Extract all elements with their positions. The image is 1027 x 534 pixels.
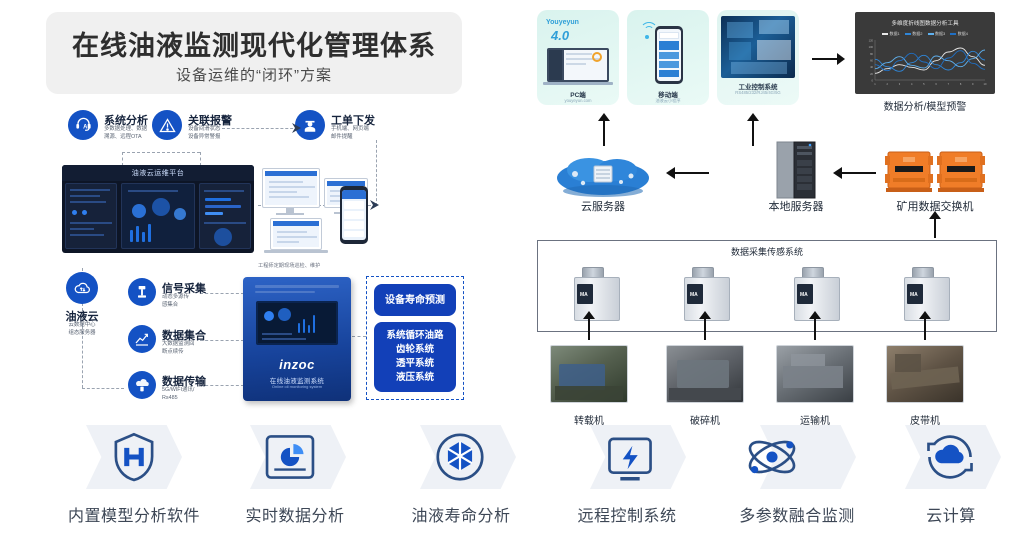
systems-line-2: 齿轮系统 — [396, 343, 434, 357]
oil-cloud-icon — [66, 272, 98, 304]
feature-label-6: 云计算 — [898, 502, 1004, 526]
legend-swatch-3 — [928, 33, 934, 35]
monitor-base — [276, 213, 304, 215]
system-analysis-sub: 多数据处理、数据溯源、远程OTA — [104, 126, 147, 142]
oil-cloud-sub: 云数据中心组态服务器 — [46, 322, 118, 338]
systems-line-4: 液压系统 — [396, 371, 434, 385]
linked-alarm-sub: 设备间滑状态设备异常警报 — [188, 126, 220, 142]
svg-text:40: 40 — [870, 65, 873, 69]
svg-text:10: 10 — [984, 82, 987, 86]
data-aggregate-sub: 大数据监测回断点续传 — [162, 341, 194, 357]
arrow-crusher-to-sensor — [698, 310, 712, 340]
feature-label-5: 多参数融合监测 — [714, 502, 880, 526]
console-left-panel — [65, 183, 117, 249]
cube-network-icon — [428, 425, 492, 489]
oil-monitoring-device: inzoc 在线油液监测系统 Online oil monitoring sys… — [243, 277, 351, 401]
system-analysis-icon: AI — [68, 110, 98, 140]
feature-label-2: 实时数据分析 — [222, 502, 368, 526]
page-title: 在线油液监测现代化管理体系 — [46, 24, 462, 63]
legend-swatch-1 — [882, 33, 888, 35]
signal-collect-icon — [128, 278, 156, 306]
connector-signal-to-device — [200, 293, 244, 294]
client-card-mobile: 移动端 油液云小程序 — [627, 10, 709, 105]
device-brand: inzoc — [243, 357, 351, 372]
pie-chart-icon — [258, 425, 322, 489]
equipment-label-transporter: 运输机 — [776, 412, 854, 427]
chart-plot: 02040608010012012345678910 — [863, 38, 987, 88]
console-body — [65, 183, 251, 250]
equipment-photo-crusher — [666, 345, 744, 403]
arrow-cloud-to-pc — [597, 112, 611, 146]
feature-label-3: 油液寿命分析 — [388, 502, 534, 526]
arrow-local-to-industrial — [746, 112, 760, 146]
mobile-phone-graphic — [655, 26, 683, 84]
systems-line-1: 系统循环油路 — [386, 329, 443, 343]
sensor-badge-3: MA — [800, 292, 808, 298]
arrow-local-to-cloud — [665, 166, 709, 180]
svg-text:60: 60 — [870, 59, 873, 63]
arrow-switch-to-local — [832, 166, 876, 180]
data-transfer-icon — [128, 371, 156, 399]
svg-text:20: 20 — [870, 72, 873, 76]
sensor-badge-2: MA — [690, 292, 698, 298]
sensor-unit-1: MA — [558, 267, 636, 325]
connector-alarm-to-workorder — [222, 128, 298, 129]
shield-check-icon — [102, 425, 166, 489]
arrow-loader-to-sensor — [582, 310, 596, 340]
connector-cloud-to-transfer — [82, 388, 124, 389]
cloud-server-icon — [553, 150, 653, 198]
connector-aggregate-to-device — [200, 340, 244, 341]
device-label-en: Online oil monitoring system — [243, 384, 351, 389]
svg-text:0: 0 — [872, 79, 874, 83]
legend-label-3: 数据3 — [935, 31, 945, 37]
industrial-subcaption: RS485/232/RJ45/4G/5G — [717, 90, 799, 95]
legend-item-2: 数据2 — [905, 31, 923, 37]
local-server-label: 本地服务器 — [756, 198, 836, 214]
mobile-phone — [340, 186, 368, 244]
svg-text:9: 9 — [972, 82, 974, 86]
equipment-label-loader: 转载机 — [550, 412, 628, 427]
infographic-canvas: 在线油液监测现代化管理体系 设备运维的“闭环”方案 AI 系统分析 多数据处理、… — [0, 0, 1027, 534]
connector-transfer-to-device — [200, 385, 244, 386]
chart-caption: 数据分析/模型预警 — [860, 98, 990, 113]
cloud-compute-icon — [918, 425, 982, 489]
chart-legend: 数据1 数据2 数据3 数据4 — [855, 31, 995, 37]
connector-sysanalysis-down — [122, 152, 123, 166]
title-card: 在线油液监测现代化管理体系 设备运维的“闭环”方案 — [46, 12, 462, 94]
mining-switch-icon — [885, 146, 985, 196]
svg-text:7: 7 — [948, 82, 950, 86]
svg-text:80: 80 — [870, 52, 873, 56]
desktop-monitor — [262, 168, 320, 208]
systems-list-box: 系统循环油路 齿轮系统 透平系统 液压系统 — [374, 322, 456, 392]
arrow-transporter-to-sensor — [808, 310, 822, 340]
svg-text:6: 6 — [935, 82, 937, 86]
sensor-badge-4: MA — [910, 292, 918, 298]
device-screen — [256, 301, 338, 345]
legend-item-4: 数据4 — [950, 31, 968, 37]
arrow-sensors-to-switch — [928, 210, 942, 238]
svg-text:8: 8 — [960, 82, 962, 86]
feature-label-4: 远程控制系统 — [554, 502, 700, 526]
arrow-console-to-screens — [370, 199, 382, 211]
connector-top-bus — [122, 152, 200, 153]
pc-laptop-graphic — [547, 48, 609, 82]
legend-swatch-4 — [950, 33, 956, 35]
analysis-chart-card: 多维度折线图数据分析工具 数据1 数据2 数据3 数据4 02040608010… — [855, 12, 995, 94]
pc-version: 4.0 — [551, 28, 569, 43]
connector-alarm-down — [200, 152, 201, 166]
laptop-base — [264, 250, 328, 253]
equipment-photo-transporter — [776, 345, 854, 403]
console-right-panel — [199, 183, 251, 249]
legend-swatch-2 — [905, 33, 911, 35]
equipment-label-belt: 皮带机 — [886, 412, 964, 427]
equipment-label-crusher: 破碎机 — [666, 412, 744, 427]
legend-label-1: 数据1 — [890, 31, 900, 37]
svg-text:120: 120 — [869, 39, 874, 43]
console-center-panel — [121, 183, 195, 249]
sensor-system-title: 数据采集传感系统 — [538, 245, 996, 258]
pc-laptop-base — [543, 82, 613, 85]
sensor-badge-1: MA — [580, 292, 588, 298]
chart-title: 多维度折线图数据分析工具 — [855, 19, 995, 27]
svg-text:1: 1 — [874, 82, 876, 86]
data-transfer-sub: 5G/WIFI通讯/Rs485 — [162, 387, 194, 403]
industrial-photo — [721, 16, 795, 78]
svg-text:100: 100 — [869, 45, 874, 49]
console-title: 油液云运维平台 — [62, 165, 254, 181]
arrow-alarm-to-workorder — [292, 122, 304, 134]
engineer-note: 工程师定期现场巡检、维护 — [258, 262, 320, 269]
systems-line-3: 透平系统 — [396, 357, 434, 371]
mobile-subcaption: 油液云小程序 — [627, 98, 709, 104]
connector-workorder-down — [376, 140, 377, 206]
laptop — [270, 218, 322, 250]
oil-cloud-platform-console: 油液云运维平台 — [62, 165, 254, 253]
wifi-icon-dot — [645, 35, 649, 39]
svg-text:AI: AI — [83, 124, 89, 130]
feature-label-1: 内置模型分析软件 — [46, 502, 222, 526]
atom-orbit-icon — [740, 425, 804, 489]
svg-text:2: 2 — [886, 82, 888, 86]
pc-brand: Youyeyun — [546, 19, 579, 26]
cloud-server-label: 云服务器 — [553, 198, 653, 214]
client-card-pc: Youyeyun 4.0 PC端 youyeyun.com — [537, 10, 619, 105]
page-subtitle: 设备运维的“闭环”方案 — [46, 64, 462, 85]
arrow-clients-to-chart — [812, 52, 846, 66]
work-order-sub: 手机端、网页端邮件提醒 — [331, 126, 369, 142]
svg-text:4: 4 — [911, 82, 913, 86]
client-card-industrial: 工业控制系统 RS485/232/RJ45/4G/5G — [717, 10, 799, 105]
pc-subcaption: youyeyun.com — [537, 98, 619, 103]
arrow-belt-to-sensor — [918, 310, 932, 340]
tower-server-icon — [773, 140, 819, 200]
equipment-photo-loader — [550, 345, 628, 403]
linked-alarm-icon — [152, 110, 182, 140]
data-aggregate-icon — [128, 325, 156, 353]
svg-text:5: 5 — [923, 82, 925, 86]
legend-item-1: 数据1 — [882, 31, 900, 37]
life-prediction-box: 设备寿命预测 — [374, 284, 456, 316]
legend-label-4: 数据4 — [958, 31, 968, 37]
equipment-photo-belt — [886, 345, 964, 403]
legend-item-3: 数据3 — [928, 31, 946, 37]
remote-bolt-icon — [598, 425, 662, 489]
signal-collect-sub: 动态多源传感集合 — [162, 294, 189, 310]
connector-device-to-systems — [352, 336, 366, 337]
legend-label-2: 数据2 — [912, 31, 922, 37]
svg-text:3: 3 — [899, 82, 901, 86]
